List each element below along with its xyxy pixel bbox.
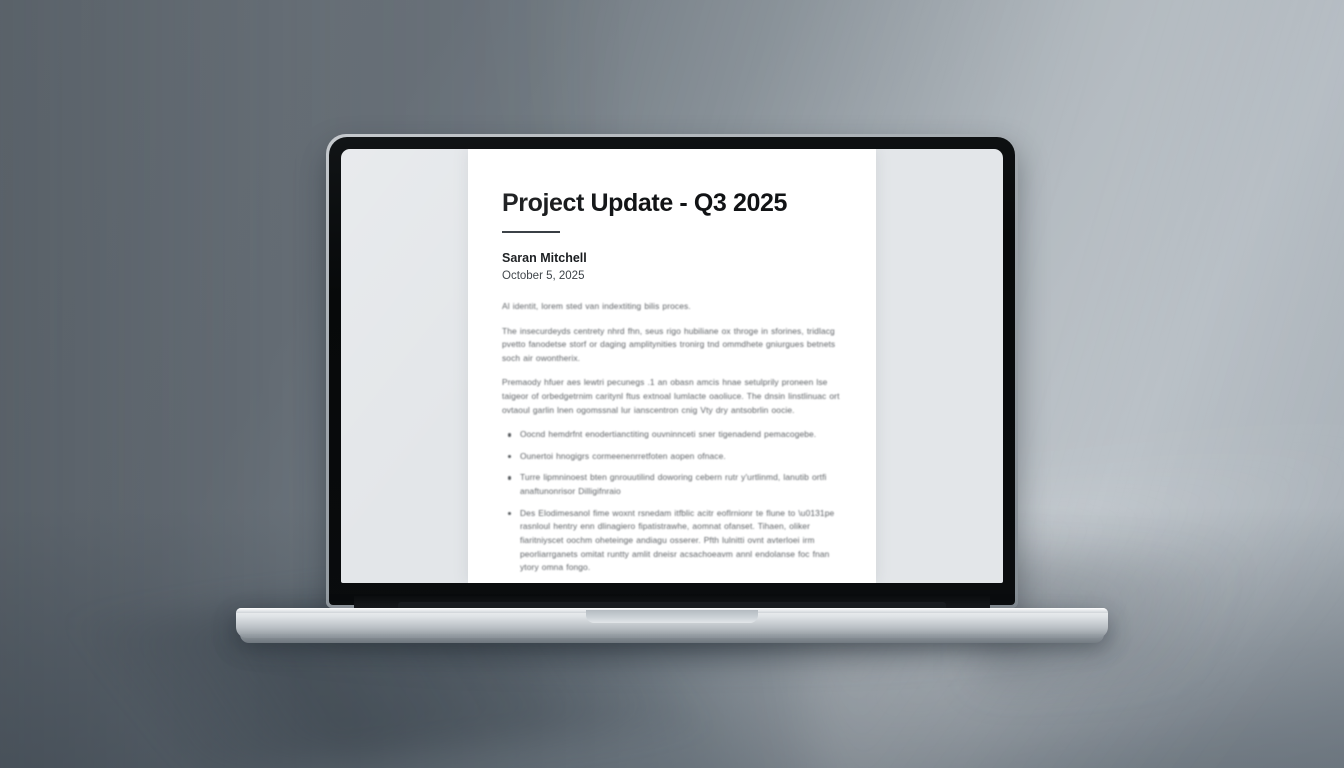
list-item: Oocnd hemdrfnt enodertianctiting ouvninn… [520,428,842,442]
document-author: Saran Mitchell [502,251,842,265]
title-divider [502,231,560,233]
document-page: Project Update - Q3 2025 Saran Mitchell … [468,149,876,583]
document-date: October 5, 2025 [502,270,842,282]
laptop-lid: Project Update - Q3 2025 Saran Mitchell … [326,134,1018,608]
document-bullet-list: Oocnd hemdrfnt enodertianctiting ouvninn… [502,428,842,574]
body-paragraph: The insecurdeyds centrety nhrd fhn, seus… [502,325,842,366]
laptop-base-notch [586,610,758,623]
document-body: Al identit, lorem sted van indextiting b… [502,300,842,575]
laptop-device: Project Update - Q3 2025 Saran Mitchell … [236,134,1108,646]
list-item: Ounertoi hnogigrs cormeenenrretfoten aop… [520,450,842,464]
page-title: Project Update - Q3 2025 [502,189,842,217]
scene: Project Update - Q3 2025 Saran Mitchell … [0,0,1344,768]
body-paragraph: Premaody hfuer aes lewtri pecunegs .1 an… [502,376,842,417]
list-item: Des Elodimesanol fime woxnt rsnedam itfb… [520,507,842,575]
body-paragraph: Al identit, lorem sted van indextiting b… [502,300,842,314]
laptop-base-front [240,634,1104,643]
list-item: Turre lipmninoest bten gnrouutilind dowo… [520,471,842,498]
screen-bezel: Project Update - Q3 2025 Saran Mitchell … [329,137,1015,605]
laptop-screen: Project Update - Q3 2025 Saran Mitchell … [341,149,1003,583]
